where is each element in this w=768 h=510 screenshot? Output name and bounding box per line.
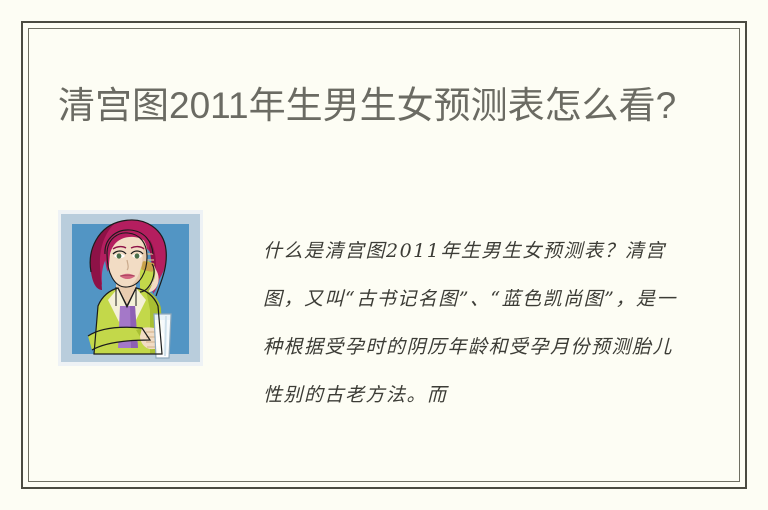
article-page: 清宫图2011年生男生女预测表怎么看? (0, 0, 768, 510)
woman-holding-glass-illustration (58, 210, 203, 366)
article-body-text: 什么是清宫图2011年生男生女预测表？清宫图，又叫“古书记名图”、“蓝色凯尚图”… (263, 227, 678, 419)
woman-holding-glass-icon (58, 210, 203, 366)
article-body-block: 什么是清宫图2011年生男生女预测表？清宫图，又叫“古书记名图”、“蓝色凯尚图”… (58, 210, 710, 460)
page-title: 清宫图2011年生男生女预测表怎么看? (58, 81, 686, 131)
page-content: 清宫图2011年生男生女预测表怎么看? (28, 28, 740, 482)
